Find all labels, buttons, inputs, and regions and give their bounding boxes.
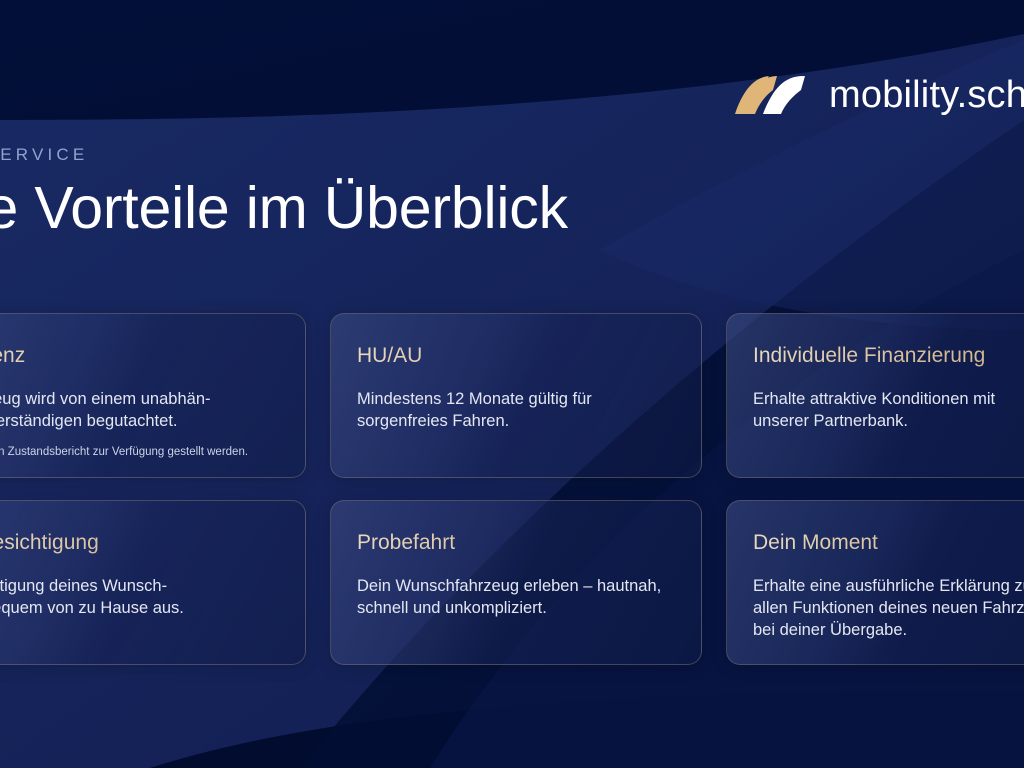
- page-title: ine Vorteile im Überblick: [0, 175, 568, 241]
- benefit-card-transparenz[interactable]: parenz ahrzeug wird von einem unabhän- a…: [0, 313, 306, 478]
- benefit-card-finanzierung[interactable]: Individuelle Finanzierung Erhalte attrak…: [726, 313, 1024, 478]
- slide-root: mobility.sch UM-SERVICE ine Vorteile im …: [0, 0, 1024, 768]
- benefit-card-besichtigung[interactable]: e Besichtigung esichtigung deines Wunsch…: [0, 500, 306, 665]
- benefit-card-dein-moment[interactable]: Dein Moment Erhalte eine ausführliche Er…: [726, 500, 1024, 665]
- brand-wordmark: mobility.sch: [829, 76, 1024, 114]
- benefit-card-grid: parenz ahrzeug wird von einem unabhän- a…: [0, 313, 1024, 665]
- card-body: ahrzeug wird von einem unabhän- achverst…: [0, 389, 279, 433]
- card-title: Individuelle Finanzierung: [753, 344, 1024, 367]
- card-title: e Besichtigung: [0, 531, 279, 554]
- card-title: HU/AU: [357, 344, 675, 367]
- card-title: Dein Moment: [753, 531, 1024, 554]
- card-body: esichtigung deines Wunsch- gs bequem von…: [0, 576, 279, 620]
- hero-heading-block: UM-SERVICE ine Vorteile im Überblick: [0, 146, 568, 241]
- mobility-swoosh-logo-icon: [733, 72, 807, 118]
- card-body: Erhalte eine ausführliche Erklärung zu a…: [753, 576, 1024, 641]
- card-title: parenz: [0, 344, 279, 367]
- card-body: Dein Wunschfahrzeug erleben – hautnah, s…: [357, 576, 675, 620]
- card-body: Erhalte attraktive Konditionen mit unser…: [753, 389, 1024, 433]
- benefit-card-hu-au[interactable]: HU/AU Mindestens 12 Monate gültig für so…: [330, 313, 702, 478]
- card-note: kann ein Zustandsbericht zur Verfügung g…: [0, 445, 279, 460]
- eyebrow-label: UM-SERVICE: [0, 146, 568, 165]
- brand-logo[interactable]: mobility.sch: [733, 72, 1024, 118]
- card-title: Probefahrt: [357, 531, 675, 554]
- benefit-card-probefahrt[interactable]: Probefahrt Dein Wunschfahrzeug erleben –…: [330, 500, 702, 665]
- card-body: Mindestens 12 Monate gültig für sorgenfr…: [357, 389, 675, 433]
